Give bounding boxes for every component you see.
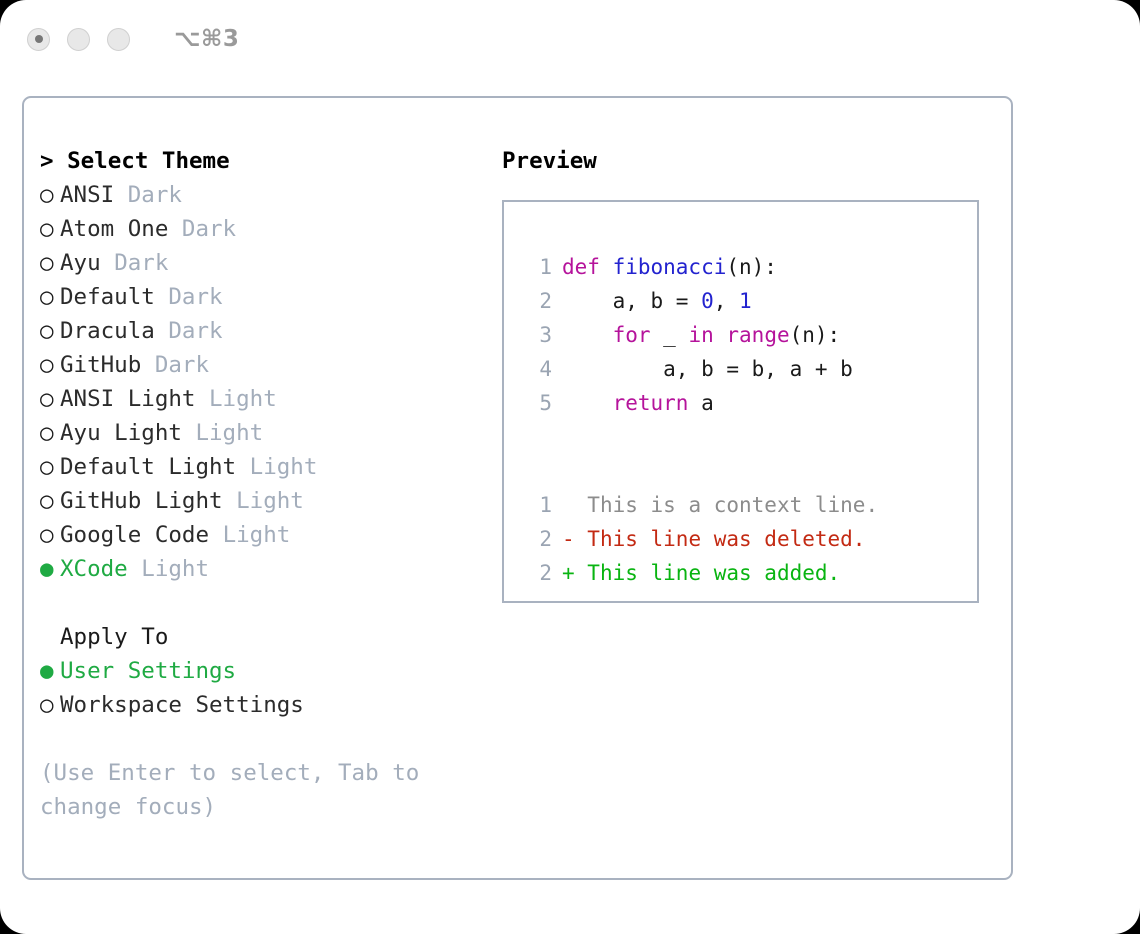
keyboard-hint-line-1: (Use Enter to select, Tab to — [40, 756, 470, 790]
apply-to-name: Workspace Settings — [60, 692, 304, 718]
theme-tag: Dark — [168, 216, 236, 242]
token-number: 0 — [701, 289, 714, 313]
preview-column: Preview 1def fibonacci(n): 2 a, b = 0, 1… — [502, 144, 992, 603]
radio-icon: ○ — [40, 450, 60, 484]
theme-tag: Dark — [101, 250, 169, 276]
hint-spacer — [40, 722, 470, 756]
theme-tag: Light — [195, 386, 276, 412]
theme-option-ayu-dark[interactable]: ○Ayu Dark — [40, 246, 470, 280]
token-keyword: for — [562, 323, 663, 347]
theme-tag: Light — [182, 420, 263, 446]
theme-option-google-code[interactable]: ○Google Code Light — [40, 518, 470, 552]
code-blank-line — [526, 420, 969, 454]
theme-name: XCode — [60, 556, 128, 582]
theme-option-dracula-dark[interactable]: ○Dracula Dark — [40, 314, 470, 348]
radio-icon: ○ — [40, 416, 60, 450]
code-line: 1def fibonacci(n): — [526, 250, 969, 284]
token-number: 1 — [739, 289, 752, 313]
token-plain: (n): — [726, 255, 777, 279]
theme-name: Ayu Light — [60, 420, 182, 446]
code-line: 2 a, b = 0, 1 — [526, 284, 969, 318]
theme-tag: Light — [236, 454, 317, 480]
theme-name: Default — [60, 284, 155, 310]
line-number: 5 — [526, 386, 552, 420]
diff-line-added: 2+ This line was added. — [526, 556, 969, 590]
code-line: 4 a, b = b, a + b — [526, 352, 969, 386]
preview-box: 1def fibonacci(n): 2 a, b = 0, 1 3 for _… — [502, 200, 979, 603]
token-plain: (n): — [790, 323, 841, 347]
token-plain: , — [714, 289, 739, 313]
apply-to-option-user-settings[interactable]: ●User Settings — [40, 654, 470, 688]
line-number: 2 — [526, 522, 552, 556]
theme-name: Google Code — [60, 522, 209, 548]
theme-name: Dracula — [60, 318, 155, 344]
apply-to-name: User Settings — [60, 658, 236, 684]
theme-tag: Dark — [155, 318, 223, 344]
diff-text: This line was added. — [587, 561, 840, 585]
token-plain: a — [701, 391, 714, 415]
token-function: fibonacci — [613, 255, 727, 279]
window-titlebar: ⌥⌘3 — [0, 0, 1140, 78]
radio-icon: ○ — [40, 178, 60, 212]
theme-picker-column: > Select Theme ○ANSI Dark ○Atom One Dark… — [40, 144, 470, 824]
window-dot-second[interactable] — [67, 28, 90, 51]
line-number: 1 — [526, 488, 552, 522]
line-number: 2 — [526, 556, 552, 590]
apply-to-heading: Apply To — [40, 620, 470, 654]
line-number: 1 — [526, 250, 552, 284]
theme-name: ANSI Light — [60, 386, 195, 412]
line-number: 3 — [526, 318, 552, 352]
theme-tag: Dark — [141, 352, 209, 378]
radio-icon: ○ — [40, 688, 60, 722]
keyboard-shortcut-label: ⌥⌘3 — [174, 26, 239, 52]
token-keyword: return — [562, 391, 701, 415]
window-controls — [27, 28, 130, 51]
token-builtin: range — [726, 323, 789, 347]
theme-option-github-dark[interactable]: ○GitHub Dark — [40, 348, 470, 382]
radio-icon: ○ — [40, 484, 60, 518]
token-keyword: def — [562, 255, 613, 279]
diff-text: This line was deleted. — [587, 527, 865, 551]
heading-label: Select Theme — [67, 148, 230, 174]
theme-name: Default Light — [60, 454, 236, 480]
theme-tag: Light — [128, 556, 209, 582]
radio-icon: ○ — [40, 280, 60, 314]
radio-icon: ○ — [40, 314, 60, 348]
theme-option-default-dark[interactable]: ○Default Dark — [40, 280, 470, 314]
radio-icon: ○ — [40, 348, 60, 382]
theme-tag: Light — [223, 488, 304, 514]
token-keyword: in — [688, 323, 726, 347]
radio-icon: ○ — [40, 246, 60, 280]
theme-name: Ayu — [60, 250, 101, 276]
radio-icon: ○ — [40, 212, 60, 246]
radio-selected-icon: ● — [40, 552, 60, 586]
token-plain: a, b = — [562, 289, 701, 313]
code-line: 5 return a — [526, 386, 969, 420]
token-plain: _ — [663, 323, 688, 347]
section-spacer — [40, 586, 470, 620]
theme-option-ayu-light[interactable]: ○Ayu Light Light — [40, 416, 470, 450]
code-sample: 1def fibonacci(n): 2 a, b = 0, 1 3 for _… — [526, 250, 969, 590]
theme-option-default-light[interactable]: ○Default Light Light — [40, 450, 470, 484]
theme-name: GitHub — [60, 352, 141, 378]
theme-option-ansi-light[interactable]: ○ANSI Light Light — [40, 382, 470, 416]
theme-option-ansi-dark[interactable]: ○ANSI Dark — [40, 178, 470, 212]
theme-name: ANSI — [60, 182, 114, 208]
apply-to-label: Apply To — [60, 624, 168, 650]
apply-to-option-workspace-settings[interactable]: ○Workspace Settings — [40, 688, 470, 722]
theme-name: GitHub Light — [60, 488, 223, 514]
theme-tag: Dark — [155, 284, 223, 310]
theme-option-github-light[interactable]: ○GitHub Light Light — [40, 484, 470, 518]
diff-text: This is a context line. — [587, 493, 878, 517]
window-dot-active-inner — [35, 35, 43, 43]
theme-tag: Light — [209, 522, 290, 548]
radio-icon: ○ — [40, 382, 60, 416]
theme-option-atom-one-dark[interactable]: ○Atom One Dark — [40, 212, 470, 246]
radio-icon: ○ — [40, 518, 60, 552]
diff-marker: - — [562, 527, 587, 551]
line-number: 2 — [526, 284, 552, 318]
window-dot-active[interactable] — [27, 28, 50, 51]
theme-tag: Dark — [114, 182, 182, 208]
keyboard-hint-line-2: change focus) — [40, 790, 470, 824]
diff-line-deleted: 2- This line was deleted. — [526, 522, 969, 556]
line-number: 4 — [526, 352, 552, 386]
radio-selected-icon: ● — [40, 654, 60, 688]
token-plain: a, b = b, a + b — [562, 357, 853, 381]
diff-line-context: 1 This is a context line. — [526, 488, 969, 522]
code-line: 3 for _ in range(n): — [526, 318, 969, 352]
dialog-panel: > Select Theme ○ANSI Dark ○Atom One Dark… — [22, 96, 1013, 880]
theme-option-xcode[interactable]: ●XCode Light — [40, 552, 470, 586]
theme-name: Atom One — [60, 216, 168, 242]
diff-marker: + — [562, 561, 587, 585]
window-dot-third[interactable] — [107, 28, 130, 51]
code-blank-line — [526, 454, 969, 488]
heading-prompt-prefix: > — [40, 148, 67, 174]
preview-heading: Preview — [502, 144, 992, 178]
diff-marker — [562, 493, 587, 517]
app-window: ⌥⌘3 > Select Theme ○ANSI Dark ○Atom One … — [0, 0, 1140, 934]
select-theme-heading: > Select Theme — [40, 144, 470, 178]
